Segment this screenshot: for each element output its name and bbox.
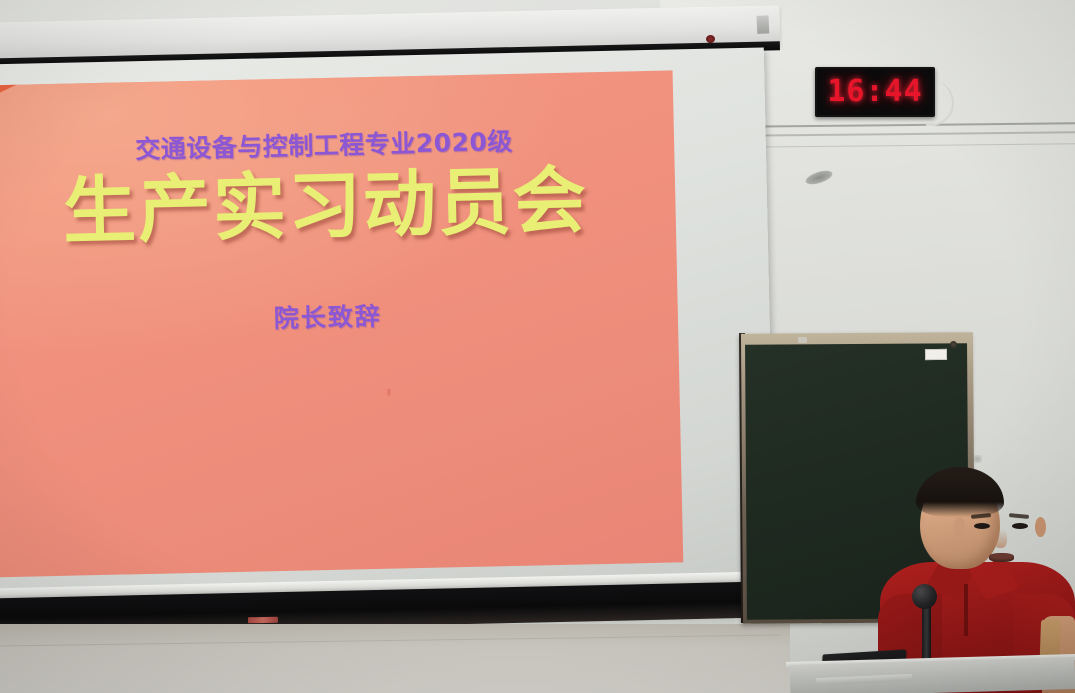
projected-slide: 交通设备与控制工程专业2020级 生产实习动员会 院长致辞 <box>0 70 683 577</box>
nose <box>994 529 1007 548</box>
blackboard-label <box>925 349 947 360</box>
mouth <box>989 553 1014 562</box>
blackboard-clip <box>798 337 807 343</box>
ear-left <box>954 517 965 537</box>
slide-title: 生产实习动员会 <box>0 158 676 255</box>
digital-clock-icon: 16:44 <box>815 67 935 117</box>
ear-right <box>1035 517 1046 537</box>
chalk-piece <box>248 617 278 624</box>
slide-speck <box>387 389 390 396</box>
slide-byline: 院长致辞 <box>0 290 678 341</box>
wall-scuff-mark <box>973 455 982 463</box>
eye-left <box>974 523 990 529</box>
classroom-photo-scene: 16:44 交通设备与控制工程专业2020级 生产实习动员会 院长致辞 <box>0 0 1075 693</box>
eyebrow-right <box>1009 513 1029 519</box>
eye-right <box>1012 523 1028 529</box>
blackboard-screw <box>950 341 957 348</box>
screen-mount-bracket <box>757 15 770 33</box>
slide-corner-accent <box>0 83 21 106</box>
clock-time-display: 16:44 <box>827 77 922 107</box>
shirt-placket <box>964 584 968 636</box>
hair <box>916 467 1004 517</box>
bottom-wall-surface <box>0 624 790 693</box>
microphone-icon <box>912 584 937 609</box>
